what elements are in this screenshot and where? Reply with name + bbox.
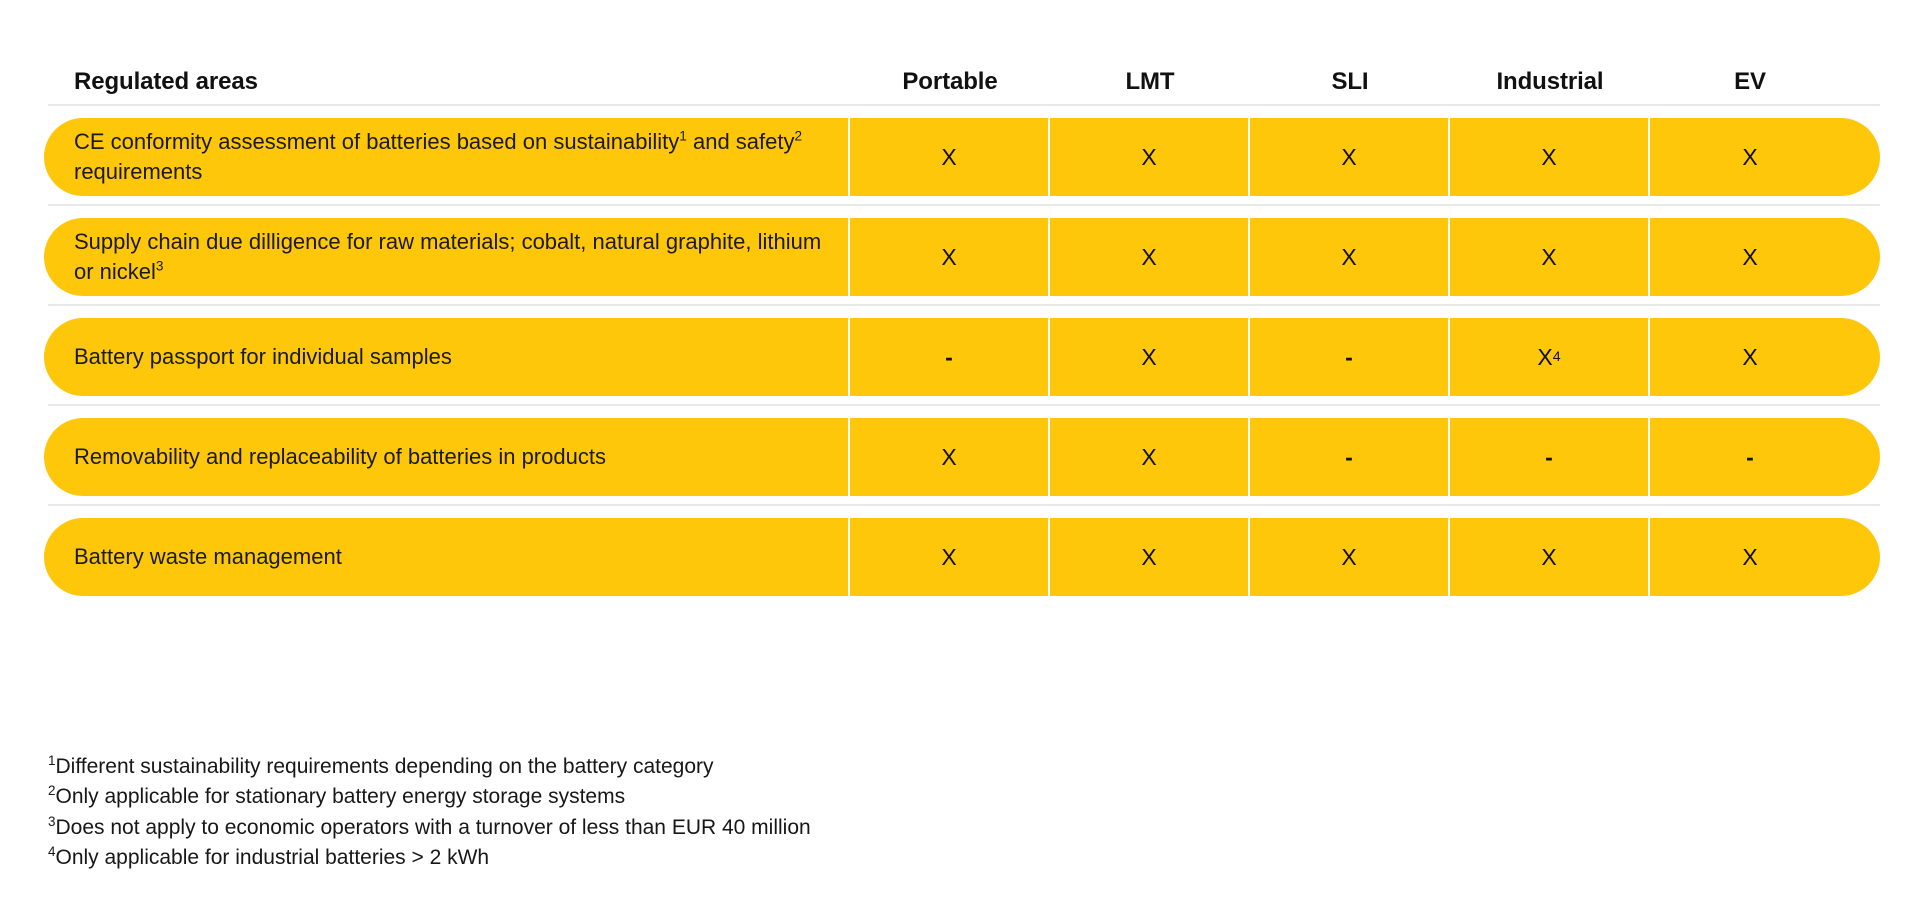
footnote-ref: 3 [156,259,164,274]
table-header-row: Regulated areas Portable LMT SLI Industr… [0,0,1920,96]
row-label-text-3: requirements [74,159,202,184]
column-header-regulated-areas: Regulated areas [0,68,850,96]
table-row: Removability and replaceability of batte… [44,418,1880,496]
cell-industrial-value: X [1541,144,1556,171]
row-block-3: Battery passport for individual samples … [0,296,1920,396]
row-label: Supply chain due dilligence for raw mate… [44,218,850,296]
cell-portable: - [850,318,1050,396]
cell-lmt: X [1050,318,1250,396]
footnote-ref: 2 [795,129,803,144]
cell-portable: X [850,218,1050,296]
table-row: Battery passport for individual samples … [44,318,1880,396]
cell-industrial: - [1450,418,1650,496]
row-separator [48,404,1880,406]
cell-lmt: X [1050,518,1250,596]
footnote-2: 2Only applicable for stationary battery … [48,782,1248,812]
row-separator [48,204,1880,206]
cell-industrial: X [1450,518,1650,596]
row-separator [48,104,1880,106]
row-separator [48,304,1880,306]
table-row: Battery waste management X X X X X [44,518,1880,596]
table-row: CE conformity assessment of batteries ba… [44,118,1880,196]
cell-ev: - [1650,418,1850,496]
cell-portable: X [850,118,1050,196]
row-block-4: Removability and replaceability of batte… [0,396,1920,496]
cell-ev: X [1650,118,1850,196]
cell-sli: - [1250,418,1450,496]
cell-industrial: X4 [1450,318,1650,396]
row-block-2: Supply chain due dilligence for raw mate… [0,196,1920,296]
cell-portable-value: - [945,344,953,371]
row-block-1: CE conformity assessment of batteries ba… [0,96,1920,196]
row-separator [48,504,1880,506]
row-label: Battery passport for individual samples [44,318,850,396]
row-label: Battery waste management [44,518,850,596]
cell-lmt: X [1050,218,1250,296]
cell-sli-value: - [1345,444,1353,471]
column-header-industrial: Industrial [1450,68,1650,96]
cell-industrial: X [1450,218,1650,296]
footnote-1: 1Different sustainability requirements d… [48,752,1248,782]
row-label: Removability and replaceability of batte… [44,418,850,496]
row-block-5: Battery waste management X X X X X [0,496,1920,596]
cell-sli: X [1250,218,1450,296]
column-header-ev: EV [1650,68,1850,96]
cell-sli-value: - [1345,344,1353,371]
cell-industrial-value: X [1537,344,1552,371]
row-label: CE conformity assessment of batteries ba… [44,118,850,196]
row-label-text: CE conformity assessment of batteries ba… [74,129,679,154]
column-header-lmt: LMT [1050,68,1250,96]
footnotes: 1Different sustainability requirements d… [48,752,1248,874]
cell-industrial-value: X [1541,544,1556,571]
column-header-sli: SLI [1250,68,1450,96]
cell-ev: X [1650,218,1850,296]
footnote-3: 3Does not apply to economic operators wi… [48,813,1248,843]
cell-sli: - [1250,318,1450,396]
cell-lmt: X [1050,118,1250,196]
footnote-text: Different sustainability requirements de… [55,755,713,778]
cell-industrial: X [1450,118,1650,196]
footnote-text: Does not apply to economic operators wit… [55,816,810,839]
cell-ev-value: - [1746,444,1754,471]
cell-ev: X [1650,318,1850,396]
cell-lmt: X [1050,418,1250,496]
row-label-text: Removability and replaceability of batte… [74,442,606,472]
row-label-text-2: and safety [687,129,795,154]
footnote-text: Only applicable for stationary battery e… [55,785,625,808]
page-root: Regulated areas Portable LMT SLI Industr… [0,0,1920,912]
cell-industrial-value: - [1545,444,1553,471]
cell-industrial-value: X [1541,244,1556,271]
cell-portable: X [850,518,1050,596]
row-label-text: Battery waste management [74,542,342,572]
row-label-text: Supply chain due dilligence for raw mate… [74,229,821,284]
column-header-portable: Portable [850,68,1050,96]
footnote-4: 4Only applicable for industrial batterie… [48,843,1248,873]
row-label-text: Battery passport for individual samples [74,342,452,372]
footnote-ref: 1 [679,129,687,144]
footnote-text: Only applicable for industrial batteries… [55,846,489,869]
regulated-areas-table: Regulated areas Portable LMT SLI Industr… [0,0,1920,596]
cell-sli: X [1250,118,1450,196]
cell-sli: X [1250,518,1450,596]
cell-ev: X [1650,518,1850,596]
table-row: Supply chain due dilligence for raw mate… [44,218,1880,296]
cell-portable: X [850,418,1050,496]
